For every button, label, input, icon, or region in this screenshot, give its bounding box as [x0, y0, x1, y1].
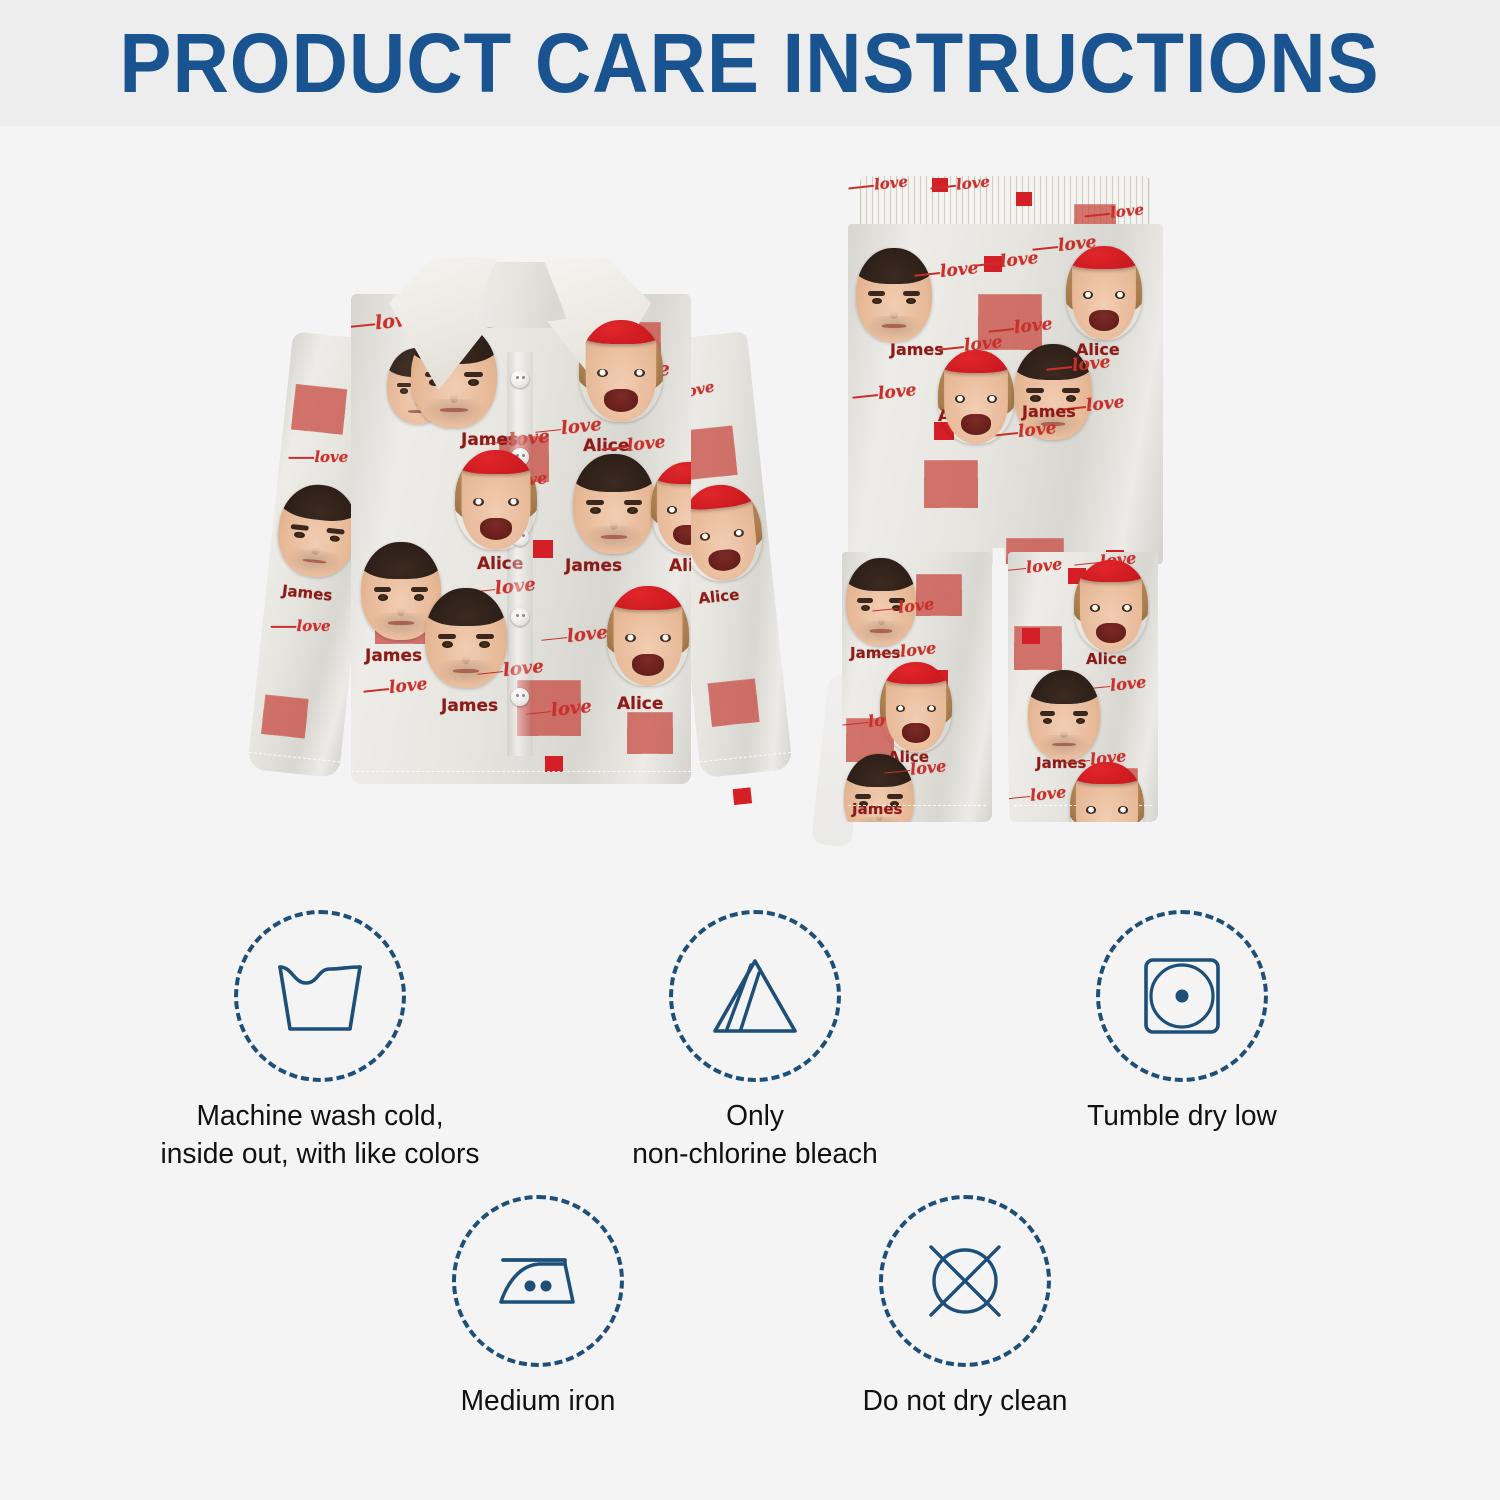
love-script: love: [1109, 672, 1147, 695]
love-script: love: [314, 448, 348, 466]
face-james: [425, 588, 507, 688]
face-james: [1028, 670, 1100, 760]
love-script: love: [297, 617, 331, 635]
love-script: love: [550, 696, 593, 721]
care-label: Tumble dry low: [1017, 1098, 1347, 1136]
pants-right-leg: love love Alice love James love: [1008, 552, 1158, 822]
name-james: James: [365, 646, 422, 666]
love-script: love: [1013, 314, 1053, 338]
shirt-button-placket: [507, 352, 533, 756]
shirt-button[interactable]: [511, 688, 529, 706]
face-alice: [651, 462, 691, 554]
pants-hip-panel: love love love love James Alice love: [848, 224, 1163, 564]
name-alice: Alice: [698, 585, 741, 607]
care-label: Medium iron: [373, 1383, 703, 1421]
care-label: Only non-chlorine bleach: [590, 1098, 920, 1173]
medium-iron-icon: [489, 1244, 587, 1318]
love-script: love: [388, 674, 428, 698]
page-title: PRODUCT CARE INSTRUCTIONS: [120, 21, 1380, 105]
header-band: PRODUCT CARE INSTRUCTIONS: [0, 0, 1500, 126]
care-item-iron: Medium iron: [368, 1195, 708, 1421]
name-alice: Alice: [669, 556, 691, 576]
face-james: [274, 481, 361, 581]
pants-left-leg: James love love love Alice love James: [842, 552, 992, 822]
face-alice: [1070, 762, 1144, 822]
machine-wash-cold-icon: [272, 953, 368, 1039]
love-script: love: [1109, 200, 1145, 221]
medium-iron-circle: [452, 1195, 624, 1367]
pajama-pants: love love love love love love love: [820, 176, 1180, 836]
non-chlorine-bleach-circle: [669, 910, 841, 1082]
face-alice: [1074, 560, 1148, 652]
tumble-dry-low-circle: [1096, 910, 1268, 1082]
face-james: [1014, 344, 1092, 440]
name-james: James: [281, 581, 333, 604]
name-james: James: [441, 696, 498, 716]
face-alice: [1066, 246, 1142, 340]
care-symbols-section: Machine wash cold, inside out, with like…: [0, 886, 1500, 1500]
love-script: love: [1025, 554, 1063, 577]
machine-wash-cold-circle: [234, 910, 406, 1082]
name-alice: Alice: [583, 436, 629, 456]
love-script: love: [626, 432, 666, 456]
care-item-bleach: Only non-chlorine bleach: [585, 910, 925, 1173]
face-alice: [607, 586, 689, 686]
face-james: [573, 454, 655, 554]
tumble-dry-low-icon: [1138, 952, 1226, 1040]
do-not-dry-clean-circle: [879, 1195, 1051, 1367]
pajama-shirt: love James love love Alice: [285, 256, 755, 786]
love-script: love: [560, 414, 603, 439]
face-alice: [579, 320, 663, 422]
face-james: [856, 248, 932, 342]
face-alice: [880, 662, 952, 752]
non-chlorine-bleach-icon: [709, 953, 801, 1039]
name-alice: Alice: [617, 694, 663, 714]
love-script: love: [873, 172, 909, 193]
name-james: James: [850, 644, 900, 662]
love-script: love: [566, 622, 609, 647]
face-james: [846, 558, 916, 646]
love-script: love: [955, 172, 991, 193]
love-script: love: [877, 380, 917, 404]
do-not-dry-clean-icon: [919, 1235, 1011, 1327]
love-script: love: [1029, 782, 1067, 805]
love-script: love: [939, 258, 979, 282]
shirt-button[interactable]: [511, 370, 529, 388]
name-alice: Alice: [1086, 650, 1127, 668]
name-james: James: [565, 556, 622, 576]
care-item-do-not-dry-clean: Do not dry clean: [795, 1195, 1135, 1421]
care-item-tumble-dry: Tumble dry low: [1012, 910, 1352, 1136]
care-item-machine-wash: Machine wash cold, inside out, with like…: [150, 910, 490, 1173]
face-alice: [938, 350, 1014, 444]
shirt-button[interactable]: [511, 608, 529, 626]
love-script: love: [909, 756, 947, 779]
product-image-stage: love James love love Alice: [0, 126, 1500, 886]
shirt-hem: [351, 771, 691, 786]
name-james: James: [890, 340, 944, 359]
care-label: Machine wash cold, inside out, with like…: [155, 1098, 485, 1173]
love-script: love: [999, 248, 1039, 272]
care-label: Do not dry clean: [800, 1383, 1130, 1421]
pants-inseam-gap: [993, 548, 1010, 824]
